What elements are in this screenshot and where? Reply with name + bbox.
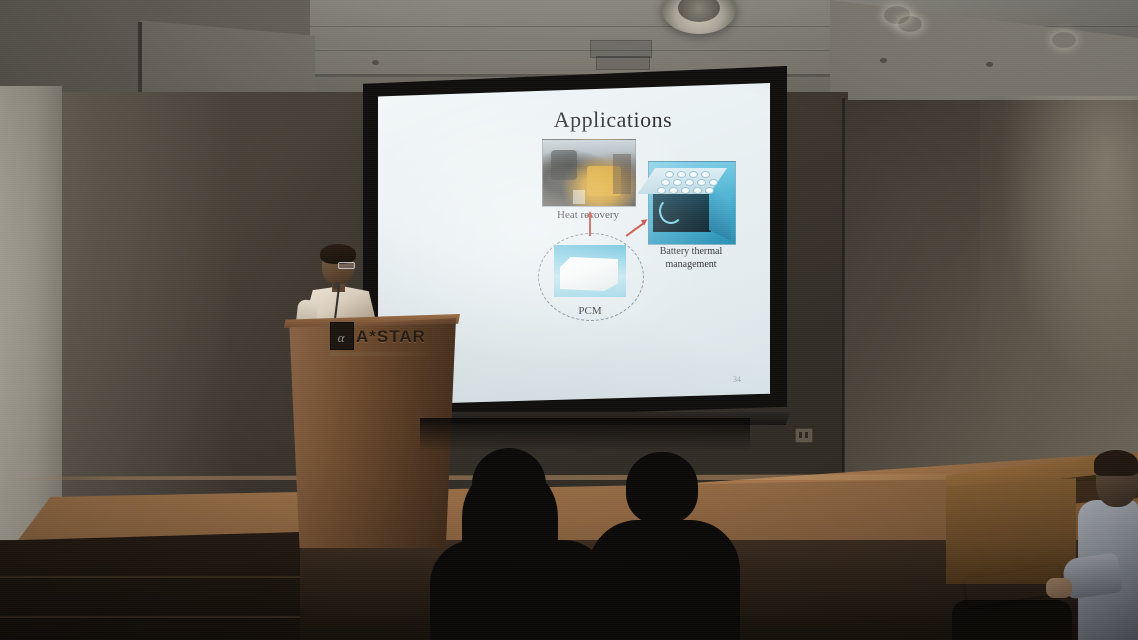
left-wall-column [0,86,62,556]
podium-alpha-mark: α [333,330,349,346]
podium-astar-logo-text: A*STAR [356,327,426,347]
stage-steps [0,532,300,640]
right-wall-highlight [980,96,1138,426]
ceiling-fixture-dot [986,62,993,67]
presenter-eyeglasses-icon [338,262,355,269]
audience-member-left-head [472,448,546,520]
ceiling-fixture-dot [880,58,887,63]
downlight-2-icon [898,16,922,32]
front-row-shadow [420,418,750,452]
podium-logo-underline [330,352,440,356]
audience-member-right-head [626,452,698,524]
power-outlet-icon [795,428,813,443]
presentation-room-photo: Applications Heat recovery Battery th [0,0,1138,640]
front-row-silhouette-base [540,552,720,640]
presenter-hair [320,244,356,264]
microphone-head-icon [333,282,340,289]
downlight-3-icon [1052,32,1076,48]
ceiling-fixture-dot [372,60,379,65]
side-person-hand [1046,578,1072,598]
side-person-hair [1094,450,1138,476]
